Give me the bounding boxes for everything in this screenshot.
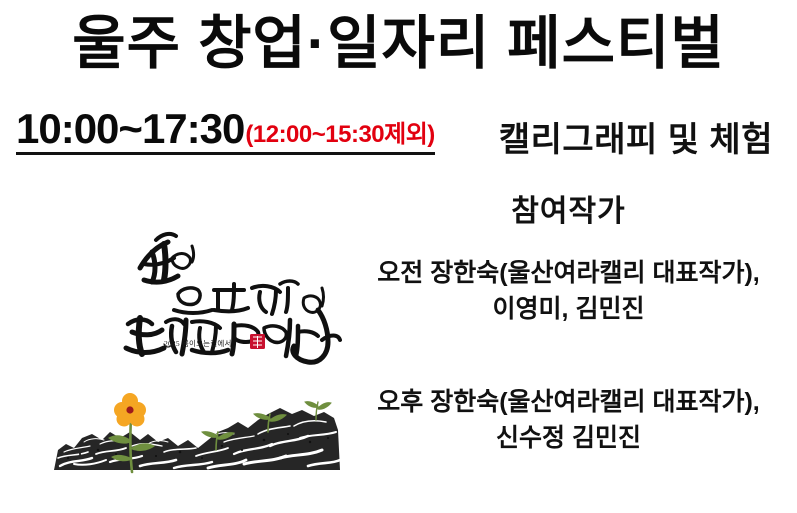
session-morning-line-1: 오전 장한숙(울산여라캘리 대표작가),: [340, 256, 797, 292]
page-title: 울주 창업·일자리 페스티벌: [0, 14, 797, 75]
calligraphy-artwork-svg: 2025 봄이오는길에서: [122, 222, 342, 367]
time-and-kind-row: 10:00~17:30 (12:00~15:30제외) 캘리그래피 및 체험: [0, 108, 797, 170]
session-morning: 오전 장한숙(울산여라캘리 대표작가), 이영미, 김민진: [340, 256, 797, 327]
seal-stamp-icon: [250, 334, 265, 349]
flower-center: [126, 406, 133, 413]
session-afternoon-line-2: 신수정 김민진: [340, 421, 797, 457]
artists-column: 참여작가 오전 장한숙(울산여라캘리 대표작가), 이영미, 김민진 오후 장한…: [340, 186, 797, 456]
svg-text:2025 봄이오는길에서: 2025 봄이오는길에서: [164, 338, 232, 348]
landscape-illustration-image: [44, 388, 344, 478]
session-morning-line-2: 이영미, 김민진: [340, 292, 797, 328]
poster-canvas: 울주 창업·일자리 페스티벌 10:00~17:30 (12:00~15:30제…: [0, 0, 797, 513]
event-time-hours: 10:00~17:30: [16, 108, 244, 150]
event-kind-label: 캘리그래피 및 체험: [499, 112, 773, 161]
session-afternoon-line-1: 오후 장한숙(울산여라캘리 대표작가),: [340, 385, 797, 421]
landscape-illustration-svg: [44, 388, 344, 478]
calligraphy-signature-text: 2025 봄이오는길에서: [164, 338, 232, 348]
session-afternoon: 오후 장한숙(울산여라캘리 대표작가), 신수정 김민진: [340, 385, 797, 456]
artists-heading: 참여작가: [340, 186, 797, 230]
calligraphy-artwork-image: 2025 봄이오는길에서: [122, 222, 342, 367]
event-time-exception-note: (12:00~15:30제외): [245, 123, 434, 150]
event-time-block: 10:00~17:30 (12:00~15:30제외): [16, 108, 435, 155]
